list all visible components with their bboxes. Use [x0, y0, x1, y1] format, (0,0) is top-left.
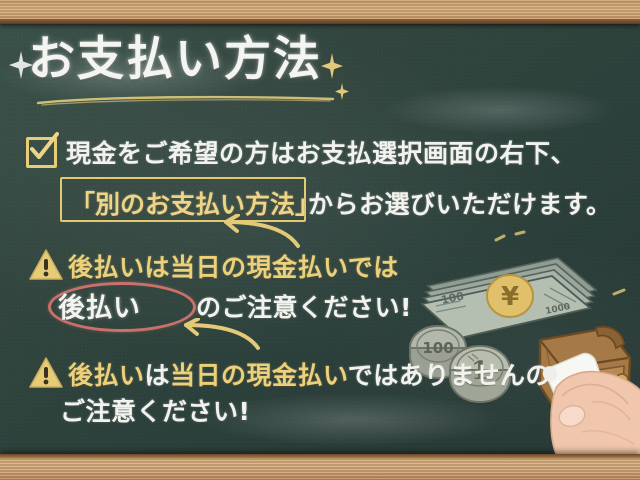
sparkle-icon [320, 52, 344, 80]
deferred-payment-label: 後払い [58, 286, 141, 325]
yen-banknote-stack-icon: 100 1000 ¥ [422, 258, 596, 338]
section3-line2: ご注意ください! [60, 392, 250, 428]
sparkle-icon [334, 82, 350, 101]
section3-part-2: 当日の現金払い [170, 361, 348, 390]
section3-part-1: は [145, 361, 171, 390]
sparkle-icon [8, 50, 34, 80]
section2-line1: 後払いは当日の現金払いでは [68, 248, 399, 284]
wood-frame-top [0, 0, 640, 24]
curved-arrow-up-left-icon [212, 214, 304, 250]
warning-triangle-icon [28, 356, 64, 389]
section1-line2-tail: からお選びいただけます。 [308, 185, 612, 221]
svg-text:100: 100 [422, 339, 453, 357]
hand-holding-chalk-icon [538, 340, 640, 458]
section3-part-0: 後払い [68, 361, 145, 390]
curved-arrow-up-left-icon [172, 318, 264, 352]
wood-frame-bottom [0, 454, 640, 480]
section3-line1: 後払いは当日の現金払いではありませんので [68, 356, 577, 392]
section1-line1: 現金をご希望の方はお支払選択画面の右下、 [66, 134, 576, 170]
page-title: お支払い方法 [28, 36, 322, 83]
warning-triangle-icon [28, 248, 64, 281]
checked-checkbox-icon [26, 137, 57, 168]
svg-text:¥: ¥ [501, 282, 519, 312]
title-underline-swoosh [36, 95, 336, 106]
chalkboard-poster: お支払い方法 現金をご希望の方はお支払選択画面の右下、 「別のお支払い方法」 か… [0, 0, 640, 480]
